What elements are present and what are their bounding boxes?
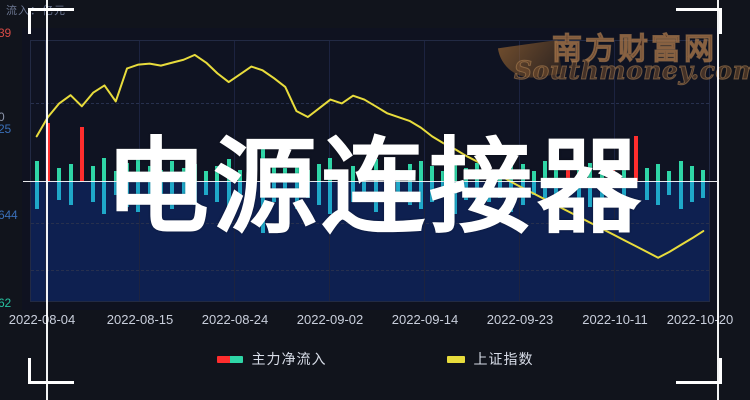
x-axis-tick-label: 2022-08-24 [202,312,269,327]
crosshair-vertical-right [717,0,719,400]
x-axis-tick-label: 2022-08-04 [9,312,76,327]
crop-mark-top-left-v [28,8,31,34]
shanghai-index-line [31,41,709,301]
legend-label-net-inflow: 主力净流入 [252,349,327,369]
legend-label-index: 上证指数 [474,349,534,369]
y-axis-label: 62 [0,296,11,310]
crop-mark-bottom-right-v [719,358,722,384]
x-axis-label-group: 2022-08-042022-08-152022-08-242022-09-02… [0,312,750,336]
crop-mark-bottom-right-h [676,381,722,384]
x-axis-tick-label: 2022-09-23 [487,312,554,327]
x-axis-tick-label: 2022-09-02 [297,312,364,327]
legend-item-index[interactable]: 上证指数 [447,349,534,369]
crop-mark-top-right-h [676,8,722,11]
legend-swatch-index [447,356,465,363]
crop-mark-top-left-h [28,8,74,11]
zero-baseline [23,181,717,182]
stock-flow-chart-screenshot: 流入：亿元 3902564462 2022-08-042022-08-15202… [0,0,750,400]
x-axis-tick-label: 2022-09-14 [392,312,459,327]
x-axis-tick-label: 2022-08-15 [107,312,174,327]
y-axis-label: 25 [0,122,11,136]
x-axis-tick-label: 2022-10-20 [667,312,734,327]
legend-item-net-inflow[interactable]: 主力净流入 [217,349,327,369]
legend-swatch-net-inflow [217,356,243,363]
y-axis-label: 644 [0,208,17,222]
x-axis-tick-label: 2022-10-11 [582,312,648,327]
plot-area [30,40,710,302]
crop-mark-bottom-left-h [28,381,74,384]
crosshair-vertical-left [46,0,48,400]
chart-legend: 主力净流入 上证指数 [0,346,750,372]
chart-panel [22,28,718,310]
y-axis-label: 39 [0,26,11,40]
crop-mark-bottom-left-v [28,358,31,384]
crop-mark-top-right-v [719,8,722,34]
